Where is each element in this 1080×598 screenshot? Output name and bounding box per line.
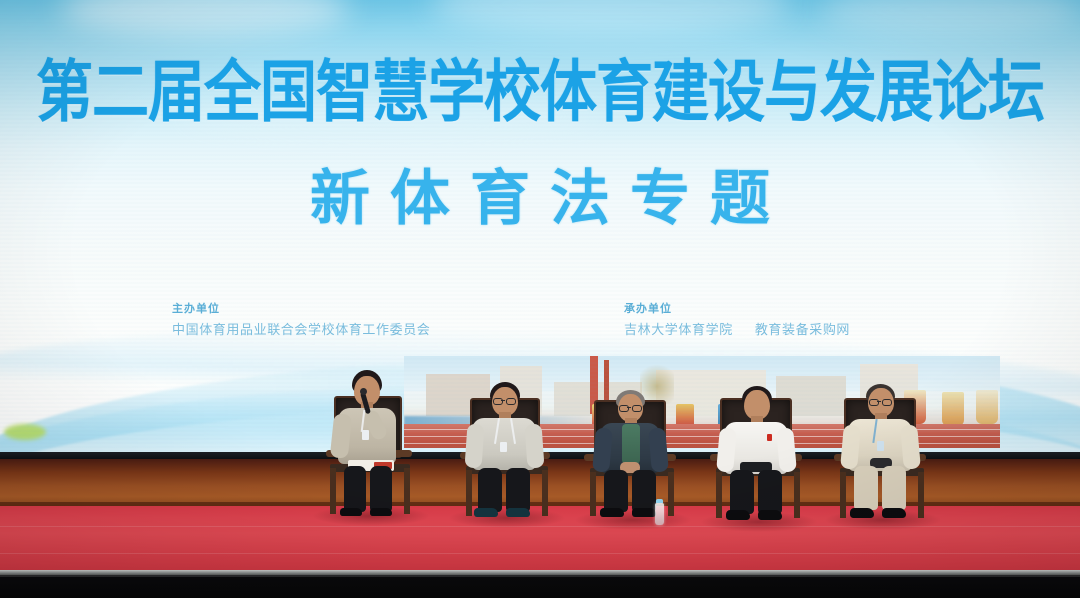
arm-right: [900, 424, 921, 469]
organizer-name: 中国体育用品业联合会学校体育工作委员会: [172, 319, 430, 338]
cloud-decoration: [60, 0, 350, 36]
shoe-right: [370, 508, 392, 516]
arm-right: [776, 427, 797, 472]
glasses-right-lens: [506, 398, 516, 405]
shoe-right: [882, 508, 906, 518]
glasses-right-lens: [882, 399, 892, 406]
chair-leg: [542, 470, 548, 516]
chair-leg: [918, 472, 924, 518]
glasses-bridge: [877, 401, 881, 402]
panelist-1: [316, 368, 426, 528]
leg-right: [370, 466, 392, 512]
name-badge: [877, 441, 884, 451]
organizer-label: 主办单位: [172, 300, 430, 316]
leg-left: [604, 470, 628, 512]
co-organizer-label: 承办单位: [624, 300, 850, 316]
leg-right: [758, 470, 782, 514]
name-badge: [500, 442, 507, 452]
leg-right: [506, 468, 530, 512]
chair-leg: [668, 472, 674, 516]
chair-leg: [716, 472, 722, 518]
inner-polo-shirt: [622, 424, 640, 464]
leg-left: [730, 470, 754, 514]
panelist-2: [452, 382, 562, 532]
cloud-decoration: [430, 0, 790, 34]
shoe-right: [758, 510, 782, 520]
shoe-left: [600, 508, 624, 517]
chair-leg: [840, 472, 846, 518]
shoe-right: [506, 508, 530, 517]
organizer-credit-block: 主办单位 中国体育用品业联合会学校体育工作委员会: [172, 300, 430, 338]
shoe-left: [474, 508, 498, 517]
shoe-right: [632, 508, 656, 517]
panelist-3: [578, 390, 688, 535]
glasses-bridge: [627, 407, 631, 408]
carpet-seam: [0, 553, 1080, 554]
water-bottle: [655, 503, 664, 525]
photo-banner: [942, 392, 964, 426]
microphone-head: [360, 388, 367, 395]
chair-leg: [404, 468, 410, 514]
arm-right: [524, 423, 544, 468]
stage-rail: [0, 575, 1080, 577]
chair-leg: [590, 472, 596, 516]
photo-banner: [976, 390, 998, 424]
chair-leg: [794, 472, 800, 518]
co-organizer-name-2: 教育装备采购网: [755, 322, 850, 337]
leg-right: [632, 470, 656, 512]
chair-leg: [330, 468, 336, 514]
bottle-cap: [656, 499, 663, 503]
glasses-bridge: [501, 400, 505, 401]
shoe-left: [340, 508, 362, 516]
cloud-decoration: [820, 0, 1080, 34]
shoe-left: [726, 510, 750, 520]
co-organizer-credit-block: 承办单位 吉林大学体育学院教育装备采购网: [624, 300, 850, 338]
co-organizer-name-1: 吉林大学体育学院: [624, 322, 733, 337]
conference-photo: 第二届全国智慧学校体育建设与发展论坛 新体育法专题 主办单位 中国体育用品业联合…: [0, 0, 1080, 598]
leg-left: [344, 466, 366, 512]
foreground-dark-area: [0, 575, 1080, 598]
panelist-4: [704, 386, 814, 536]
green-accent-shape: [4, 424, 46, 440]
name-badge: [362, 430, 369, 440]
leg-right: [882, 466, 906, 510]
chair-leg: [466, 470, 472, 516]
co-organizer-names: 吉林大学体育学院教育装备采购网: [624, 319, 850, 338]
leg-left: [854, 466, 878, 510]
forum-subtitle: 新体育法专题: [0, 163, 1080, 235]
panelist-5: [828, 384, 938, 534]
leg-left: [478, 468, 502, 512]
arm-left: [464, 423, 484, 468]
shoe-left: [850, 508, 874, 518]
glasses-right-lens: [632, 405, 642, 412]
forum-main-title: 第二届全国智慧学校体育建设与发展论坛: [0, 55, 1080, 131]
lapel-pin: [767, 434, 772, 441]
